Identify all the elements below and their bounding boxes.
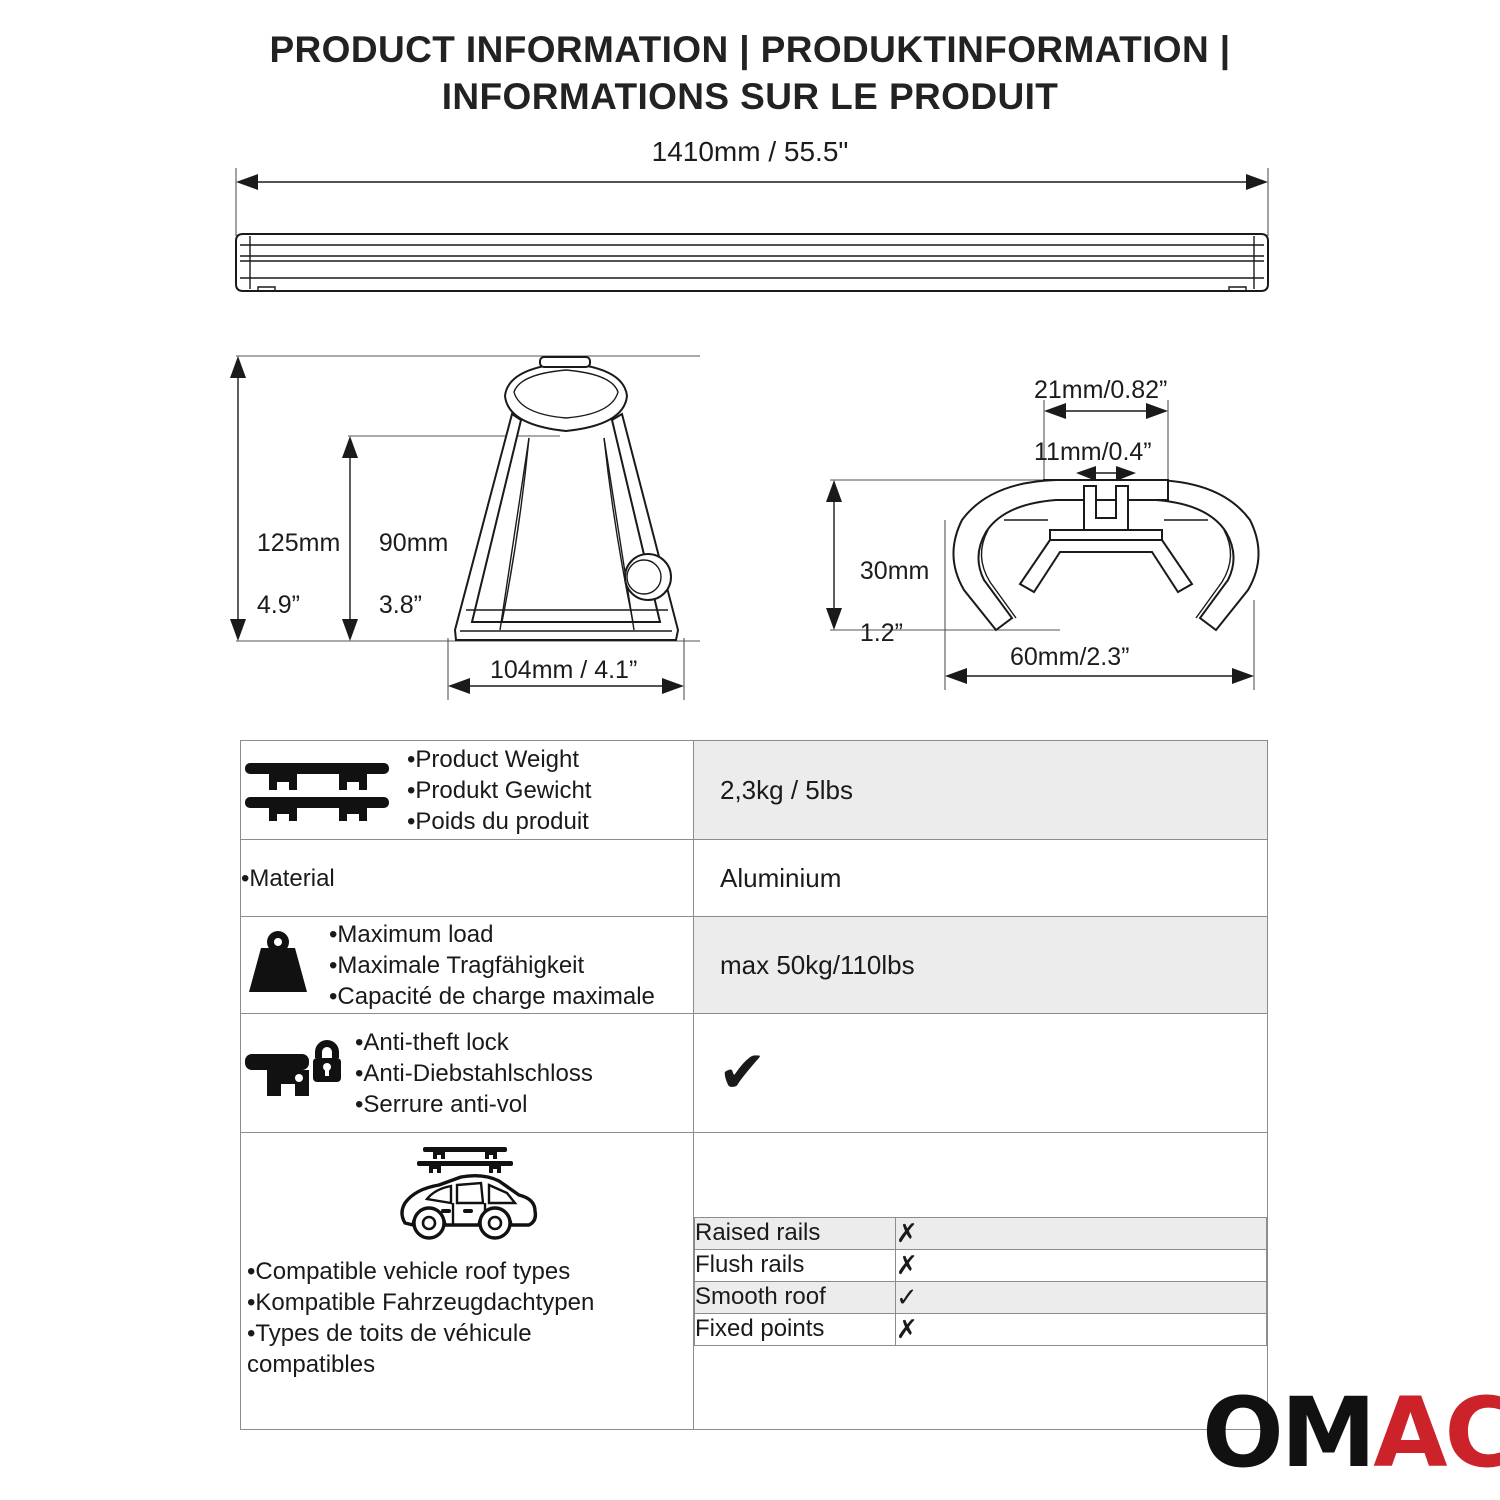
car-with-roofrack-icon	[391, 1141, 543, 1250]
roof-option-raised-rails-mark: ✗	[896, 1217, 1267, 1249]
cross-height-label: 30mm 1.2”	[846, 525, 929, 649]
cross-width-label: 60mm/2.3”	[1010, 642, 1129, 673]
roof-option-flush-rails-mark: ✗	[896, 1249, 1267, 1281]
weight-label-fr: •Poids du produit	[407, 808, 589, 835]
maxload-label-fr: •Capacité de charge maximale	[329, 983, 655, 1010]
roof-type-options-table: Raised rails ✗ Flush rails ✗ Smooth roof…	[694, 1217, 1267, 1346]
roof-option-fixed-points-mark: ✗	[896, 1313, 1267, 1345]
rooftypes-label-text: •Compatible vehicle roof types •Kompatib…	[241, 1250, 693, 1380]
weight-value: 2,3kg / 5lbs	[694, 775, 1267, 806]
material-label-cell: •Material	[241, 840, 694, 917]
weight-label-text: •Product Weight •Produkt Gewicht •Poids …	[407, 744, 591, 837]
lock-icon	[241, 1036, 341, 1111]
cross-top-channel-label: 21mm/0.82”	[1034, 375, 1167, 406]
rooftypes-label-cell: •Compatible vehicle roof types •Kompatib…	[241, 1133, 694, 1430]
roof-option-fixed-points-name: Fixed points	[695, 1313, 896, 1345]
maxload-label-en: •Maximum load	[329, 921, 493, 948]
omac-logo: OMAC	[1202, 1390, 1500, 1476]
weight-label-de: •Produkt Gewicht	[407, 777, 591, 804]
lock-label-text: •Anti-theft lock •Anti-Diebstahlschloss …	[355, 1027, 593, 1120]
lock-label-fr: •Serrure anti-vol	[355, 1091, 527, 1118]
lock-label-cell: •Anti-theft lock •Anti-Diebstahlschloss …	[241, 1014, 694, 1133]
maxload-label-text: •Maximum load •Maximale Tragfähigkeit •C…	[329, 919, 655, 1012]
table-row: •Anti-theft lock •Anti-Diebstahlschloss …	[241, 1014, 1268, 1133]
rooftypes-label-en: •Compatible vehicle roof types	[247, 1258, 570, 1285]
list-item: Fixed points ✗	[695, 1313, 1267, 1345]
weight-value-cell: 2,3kg / 5lbs	[694, 741, 1268, 840]
lock-label-en: •Anti-theft lock	[355, 1029, 509, 1056]
roof-option-raised-rails-name: Raised rails	[695, 1217, 896, 1249]
roof-option-smooth-roof-mark: ✓	[896, 1281, 1267, 1313]
table-row: •Compatible vehicle roof types •Kompatib…	[241, 1133, 1268, 1430]
list-item: Flush rails ✗	[695, 1249, 1267, 1281]
maxload-label-cell: •Maximum load •Maximale Tragfähigkeit •C…	[241, 917, 694, 1014]
rooftypes-label-de: •Kompatible Fahrzeugdachtypen	[247, 1289, 594, 1316]
maxload-value: max 50kg/110lbs	[694, 950, 1267, 981]
weight-label-en: •Product Weight	[407, 746, 579, 773]
rooftypes-label-fr2: compatibles	[247, 1351, 375, 1378]
cross-height-in: 1.2”	[860, 619, 903, 647]
rooftypes-label-fr: •Types de toits de véhicule	[247, 1320, 532, 1347]
roof-option-flush-rails-name: Flush rails	[695, 1249, 896, 1281]
roof-option-smooth-roof-name: Smooth roof	[695, 1281, 896, 1313]
omac-logo-red-part: AC	[1373, 1390, 1500, 1476]
omac-logo-black-part: OM	[1202, 1390, 1373, 1476]
maxload-value-cell: max 50kg/110lbs	[694, 917, 1268, 1014]
lock-value-cell: ✔	[694, 1014, 1268, 1133]
maxload-label-de: •Maximale Tragfähigkeit	[329, 952, 584, 979]
material-label-text: •Material	[241, 865, 335, 892]
table-row: •Maximum load •Maximale Tragfähigkeit •C…	[241, 917, 1268, 1014]
table-row: •Material Aluminium	[241, 840, 1268, 917]
product-spec-table: •Product Weight •Produkt Gewicht •Poids …	[240, 740, 1268, 1430]
table-row: •Product Weight •Produkt Gewicht •Poids …	[241, 741, 1268, 840]
list-item: Raised rails ✗	[695, 1217, 1267, 1249]
material-value: Aluminium	[694, 863, 1267, 894]
list-item: Smooth roof ✓	[695, 1281, 1267, 1313]
lock-label-de: •Anti-Diebstahlschloss	[355, 1060, 593, 1087]
weight-icon	[241, 928, 315, 1003]
lock-check-mark: ✔	[694, 1044, 1267, 1102]
rooftypes-options-cell: Raised rails ✗ Flush rails ✗ Smooth roof…	[694, 1133, 1268, 1430]
cross-height-mm: 30mm	[860, 557, 929, 585]
material-value-cell: Aluminium	[694, 840, 1268, 917]
cross-inner-slot-label: 11mm/0.4”	[1034, 437, 1152, 468]
weight-label-cell: •Product Weight •Produkt Gewicht •Poids …	[241, 741, 694, 840]
two-crossbars-icon	[241, 755, 393, 826]
